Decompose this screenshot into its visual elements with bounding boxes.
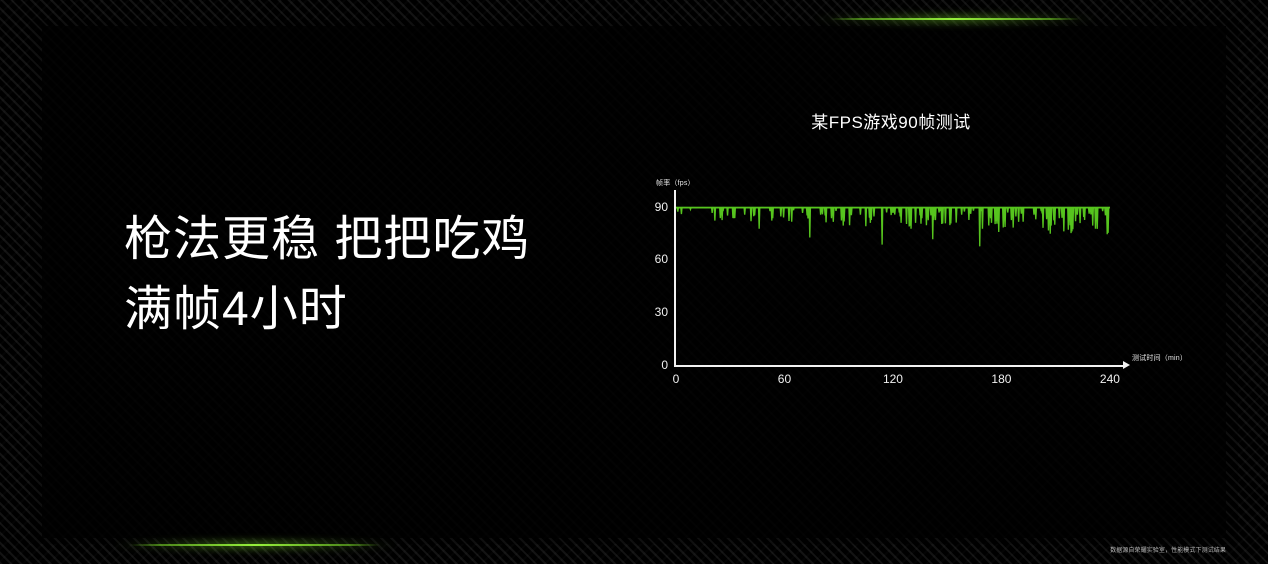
slide-canvas: 枪法更稳 把把吃鸡 满帧4小时 某FPS游戏90帧测试 帧率（fps） 测试时间… xyxy=(0,0,1268,564)
y-tick-label: 90 xyxy=(636,200,668,214)
fps-chart: 某FPS游戏90帧测试 帧率（fps） 测试时间（min） 0306090 06… xyxy=(612,100,1212,400)
fps-trace xyxy=(676,190,1128,366)
headline-line-2: 满帧4小时 xyxy=(124,275,594,345)
y-tick-label: 60 xyxy=(636,252,668,266)
x-tick-label: 60 xyxy=(764,372,804,386)
y-tick-label: 0 xyxy=(636,358,668,372)
accent-bar-bottom xyxy=(130,544,380,546)
fps-line-path xyxy=(676,208,1110,247)
y-axis-title: 帧率（fps） xyxy=(656,178,695,188)
accent-bar-top-glow xyxy=(816,11,1094,27)
accent-bar-top-line xyxy=(830,18,1080,20)
x-tick-label: 0 xyxy=(656,372,696,386)
chart-plot-area: 帧率（fps） 测试时间（min） 0306090 060120180240 xyxy=(634,178,1194,383)
accent-bar-top xyxy=(830,18,1080,20)
footnote-disclaimer: 数据源自荣耀实验室，性能模式下测试结果 xyxy=(1110,545,1226,554)
accent-bar-bottom-line xyxy=(130,544,380,546)
headline: 枪法更稳 把把吃鸡 满帧4小时 xyxy=(124,205,594,345)
headline-line-1: 枪法更稳 把把吃鸡 xyxy=(124,205,594,275)
x-tick-label: 120 xyxy=(873,372,913,386)
x-tick-label: 180 xyxy=(981,372,1021,386)
y-tick-label: 30 xyxy=(636,305,668,319)
x-tick-label: 240 xyxy=(1090,372,1130,386)
accent-bar-bottom-glow xyxy=(116,537,394,553)
chart-title: 某FPS游戏90帧测试 xyxy=(612,108,1170,133)
x-axis-title: 测试时间（min） xyxy=(1132,353,1187,363)
